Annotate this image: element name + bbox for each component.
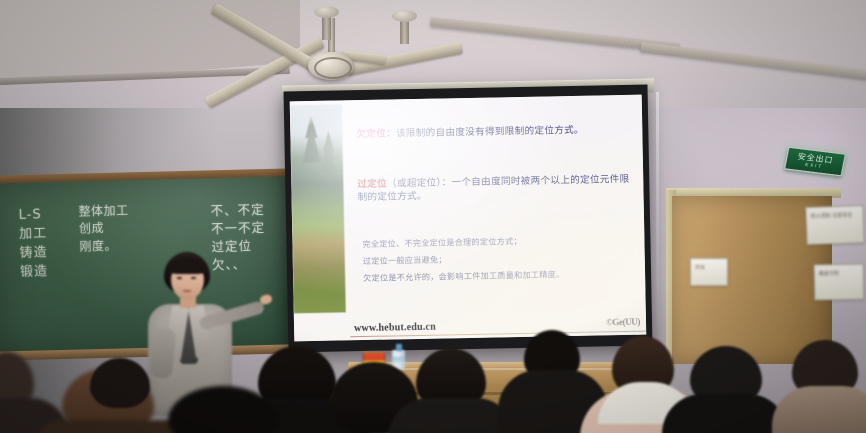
slide-paragraph-2-text: （或超定位）：一个自由度同时被两个以上的定位元件限制的定位方式。 [357,174,629,203]
light-switch-plate[interactable]: 开关 [690,258,728,286]
audience-shoulders [38,420,188,433]
slide-footer-url: www.hebut.edu.cn [354,322,436,335]
wall-notice: 教室守则 [814,264,865,301]
fan-mount-cap [314,6,339,18]
tree-icon [298,115,325,183]
wall-notice: 防火须知 注意安全 [805,205,864,245]
slide-paragraph-1: 欠定位：该限制的自由度没有得到限制的定位方式。 [356,123,636,141]
slide-paragraph-1-text: ：该限制的自由度没有得到限制的定位方式。 [386,125,584,140]
audience-shoulders [662,394,788,433]
presenter-mouth [183,290,191,292]
wall-notice-text: 防火须知 注意安全 [811,212,860,221]
slide-bullet-list: 完全定位、不完全定位是合理的定位方式； 过定位一般应当避免； 欠定位是不允许的，… [362,231,637,287]
projector-screen-surface: 欠定位：该限制的自由度没有得到限制的定位方式。 过定位（或超定位）：一个自由度同… [290,95,647,342]
presentation-slide: 欠定位：该限制的自由度没有得到限制的定位方式。 过定位（或超定位）：一个自由度同… [290,95,647,342]
university-logo: ©Ge(UU) [606,317,640,328]
slide-keyword-undefined-location: 欠定位 [356,129,386,141]
exit-sign-english-label: EXIT [805,162,824,170]
projector-screen: 欠定位：该限制的自由度没有得到限制的定位方式。 过定位（或超定位）：一个自由度同… [284,85,653,353]
audience-shoulders [388,398,516,433]
slide-keyword-over-location: 过定位 [357,179,387,191]
audience-head [90,358,150,408]
presenter-arm-left [150,327,176,379]
fan-mount-cap [392,10,417,22]
wall-notice-text: 教室守则 [819,271,860,279]
tree-icon [318,130,339,182]
slide-decorative-photo [290,104,346,313]
slide-paragraph-2: 过定位（或超定位）：一个自由度同时被两个以上的定位元件限制的定位方式。 [357,173,637,204]
blackboard-chalk-column-2: 整体加工 创成 刚度。 [78,202,129,255]
slide-body: 欠定位：该限制的自由度没有得到限制的定位方式。 过定位（或超定位）：一个自由度同… [346,95,647,341]
light-switch-label: 开关 [695,265,724,272]
wall-corner-seam [656,92,659,372]
blackboard-chalk-column-1: L-S 加工 铸造 锻造 [18,206,48,282]
classroom-photo: 安全出口 EXIT 防火须知 注意安全 教室守则 开关 L-S 加工 铸造 锻造… [0,0,866,433]
fan-hub-ring [314,57,352,79]
bottle-label [392,357,405,364]
bottle-cap [396,344,402,351]
